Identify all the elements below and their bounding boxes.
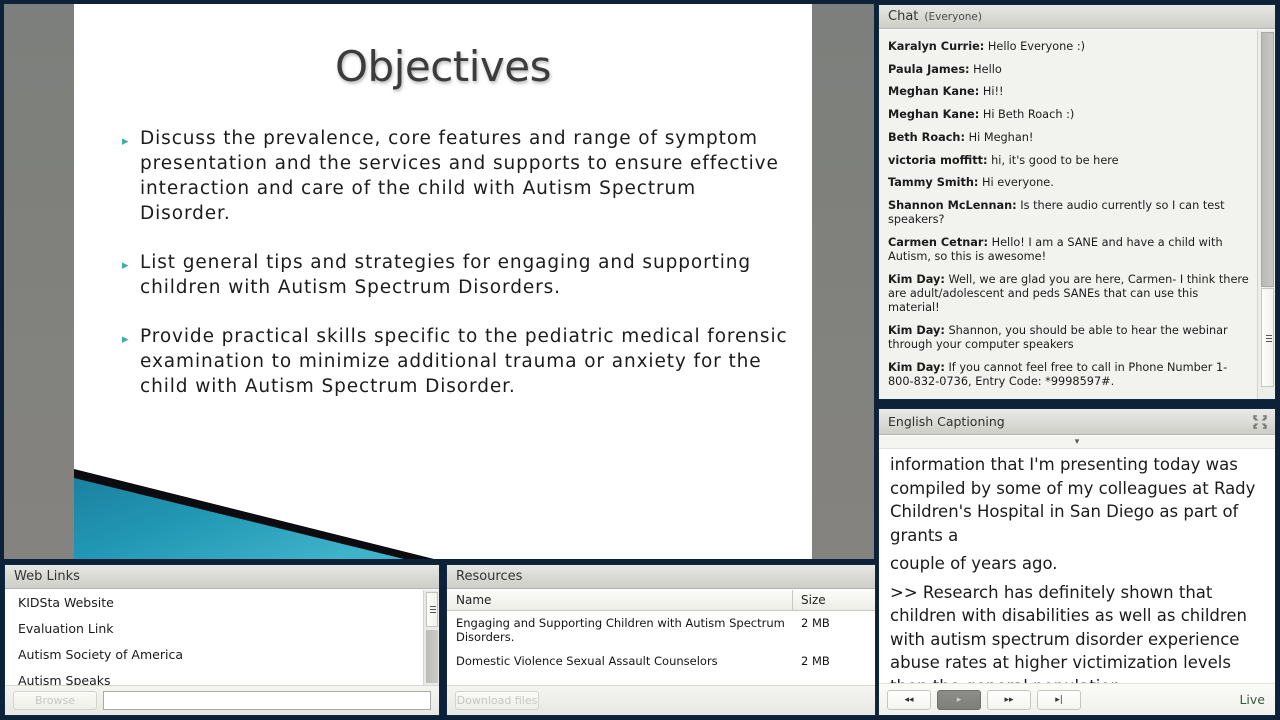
chat-message: Shannon McLennan: Is there audio current… (888, 199, 1250, 227)
captioning-playback-controls: ◂◂ ▸ ▸▸ ▸| Live (879, 683, 1275, 715)
chat-message-author: Meghan Kane: (888, 108, 979, 121)
chat-message-text: Hi Meghan! (969, 131, 1034, 144)
slide-letterbox-right (812, 4, 874, 559)
slide-decoration-graphic (74, 454, 504, 559)
table-row[interactable]: Domestic Violence Sexual Assault Counsel… (447, 649, 875, 673)
list-item[interactable]: KIDSta Website (5, 590, 439, 616)
captioning-text-area[interactable]: ▾ information that I'm presenting today … (879, 435, 1275, 683)
chat-message-author: Kim Day: (888, 273, 945, 286)
captioning-panel-title: English Captioning (888, 414, 1005, 429)
slide-bullet-text: Discuss the prevalence, core features an… (140, 126, 788, 226)
chat-message: Carmen Cetnar: Hello! I am a SANE and ha… (888, 236, 1250, 264)
caption-skip-to-end-button[interactable]: ▸| (1037, 690, 1081, 710)
chat-message-author: Tammy Smith: (888, 176, 978, 189)
captioning-transcript: information that I'm presenting today wa… (879, 449, 1275, 683)
resources-table-body: Engaging and Supporting Children with Au… (447, 611, 875, 685)
resource-name: Engaging and Supporting Children with Au… (447, 611, 793, 649)
slide-bullet-item: ▸ Discuss the prevalence, core features … (122, 126, 788, 226)
chat-message-author: Beth Roach: (888, 131, 965, 144)
chat-message: Kim Day: If you cannot feel free to call… (888, 361, 1250, 389)
web-links-panel-header: Web Links (5, 565, 439, 589)
web-links-panel: Web Links KIDSta Website Evaluation Link… (4, 564, 440, 716)
chevron-glyph: ▾ (1075, 438, 1080, 446)
chat-message: Paula James: Hello (888, 63, 1250, 77)
chat-message-author: Karalyn Currie: (888, 40, 984, 53)
scroll-down-chevron-icon[interactable]: ▾ (879, 436, 1275, 449)
bullet-triangle-icon: ▸ (122, 250, 140, 300)
webinar-viewer-app: Objectives ▸ Discuss the prevalence, cor… (0, 0, 1280, 720)
web-links-panel-title: Web Links (14, 569, 80, 584)
chat-scope-label: (Everyone) (924, 11, 982, 23)
chat-message-text: Hello (973, 63, 1002, 76)
chat-message-text: Hi everyone. (982, 176, 1054, 189)
web-links-url-input[interactable] (103, 691, 431, 710)
caption-paragraph: couple of years ago. (890, 552, 1263, 576)
scrollbar-grip-icon (430, 606, 436, 613)
table-row[interactable]: Engaging and Supporting Children with Au… (447, 611, 875, 649)
chat-message-area[interactable]: Karalyn Currie: Hello Everyone :) Paula … (879, 29, 1275, 399)
slide-canvas: Objectives ▸ Discuss the prevalence, cor… (74, 4, 812, 559)
chat-panel: Chat (Everyone) Karalyn Currie: Hello Ev… (878, 4, 1276, 400)
chat-message-author: Kim Day: (888, 324, 945, 337)
chat-scrollbar-track[interactable] (1261, 32, 1274, 287)
resources-footer: Download files (447, 685, 875, 715)
chat-message: Karalyn Currie: Hello Everyone :) (888, 40, 1250, 54)
slide-title: Objectives (74, 42, 812, 91)
slide-bullet-text: List general tips and strategies for eng… (140, 250, 788, 300)
chat-message-author: Kim Day: (888, 361, 945, 374)
captioning-panel-header: English Captioning (879, 409, 1275, 435)
bullet-triangle-icon: ▸ (122, 324, 140, 399)
chat-message: Kim Day: Well, we are glad you are here,… (888, 273, 1250, 316)
slide-viewer[interactable]: Objectives ▸ Discuss the prevalence, cor… (3, 3, 875, 560)
list-item[interactable]: Autism Speaks (5, 668, 439, 685)
resources-panel: Resources Name Size Engaging and Support… (446, 564, 876, 716)
chat-message-author: Paula James: (888, 63, 970, 76)
chat-message-text: Hi!! (983, 85, 1004, 98)
expand-icon[interactable] (1252, 414, 1268, 430)
chat-panel-header: Chat (Everyone) (879, 5, 1275, 29)
list-item[interactable]: Evaluation Link (5, 616, 439, 642)
chat-message-author: Carmen Cetnar: (888, 236, 988, 249)
scrollbar-grip-icon (1266, 335, 1272, 342)
browse-button[interactable]: Browse (13, 691, 97, 710)
slide-letterbox-left (4, 4, 74, 559)
chat-message: victoria moffitt: hi, it's good to be he… (888, 154, 1250, 168)
web-links-scrollbar-track[interactable] (426, 630, 438, 683)
chat-message: Tammy Smith: Hi everyone. (888, 176, 1250, 190)
web-links-list[interactable]: KIDSta Website Evaluation Link Autism So… (5, 589, 439, 685)
caption-fast-forward-button[interactable]: ▸▸ (987, 690, 1031, 710)
chat-message-text: Hi Beth Roach :) (983, 108, 1074, 121)
resources-column-header: Name Size (447, 589, 875, 611)
caption-rewind-button[interactable]: ◂◂ (887, 690, 931, 710)
web-links-footer: Browse (5, 685, 439, 715)
column-header-size[interactable]: Size (793, 590, 875, 610)
chat-message: Kim Day: Shannon, you should be able to … (888, 324, 1250, 352)
web-links-scrollbar[interactable] (423, 590, 439, 685)
download-files-button[interactable]: Download files (455, 691, 539, 710)
chat-message-list: Karalyn Currie: Hello Everyone :) Paula … (879, 30, 1257, 399)
caption-paragraph: information that I'm presenting today wa… (890, 453, 1263, 547)
resources-panel-title: Resources (456, 569, 522, 584)
resource-size: 2 MB (793, 649, 875, 673)
column-header-name[interactable]: Name (447, 590, 793, 610)
chat-message: Meghan Kane: Hi Beth Roach :) (888, 108, 1250, 122)
slide-bullet-item: ▸ List general tips and strategies for e… (122, 250, 788, 300)
chat-scrollbar[interactable] (1257, 30, 1275, 399)
chat-message-text: Hello Everyone :) (988, 40, 1085, 53)
slide-bullet-text: Provide practical skills specific to the… (140, 324, 788, 399)
live-status-label: Live (1239, 692, 1265, 707)
web-links-scrollbar-thumb[interactable] (426, 592, 438, 627)
chat-scrollbar-thumb[interactable] (1261, 288, 1274, 387)
resource-size: 2 MB (793, 611, 875, 649)
list-item[interactable]: Autism Society of America (5, 642, 439, 668)
chat-message: Beth Roach: Hi Meghan! (888, 131, 1250, 145)
chat-message-author: victoria moffitt: (888, 154, 988, 167)
caption-paragraph: >> Research has definitely shown that ch… (890, 581, 1263, 684)
caption-play-button[interactable]: ▸ (937, 690, 981, 710)
chat-message-author: Meghan Kane: (888, 85, 979, 98)
chat-message: Meghan Kane: Hi!! (888, 85, 1250, 99)
chat-message-text: hi, it's good to be here (991, 154, 1119, 167)
chat-message-author: Shannon McLennan: (888, 199, 1017, 212)
chat-panel-title: Chat (888, 9, 918, 24)
resource-name: Domestic Violence Sexual Assault Counsel… (447, 649, 793, 673)
slide-bullet-list: ▸ Discuss the prevalence, core features … (122, 126, 788, 423)
slide-bullet-item: ▸ Provide practical skills specific to t… (122, 324, 788, 399)
english-captioning-panel: English Captioning ▾ information that (878, 408, 1276, 716)
bullet-triangle-icon: ▸ (122, 126, 140, 226)
resources-panel-header: Resources (447, 565, 875, 589)
